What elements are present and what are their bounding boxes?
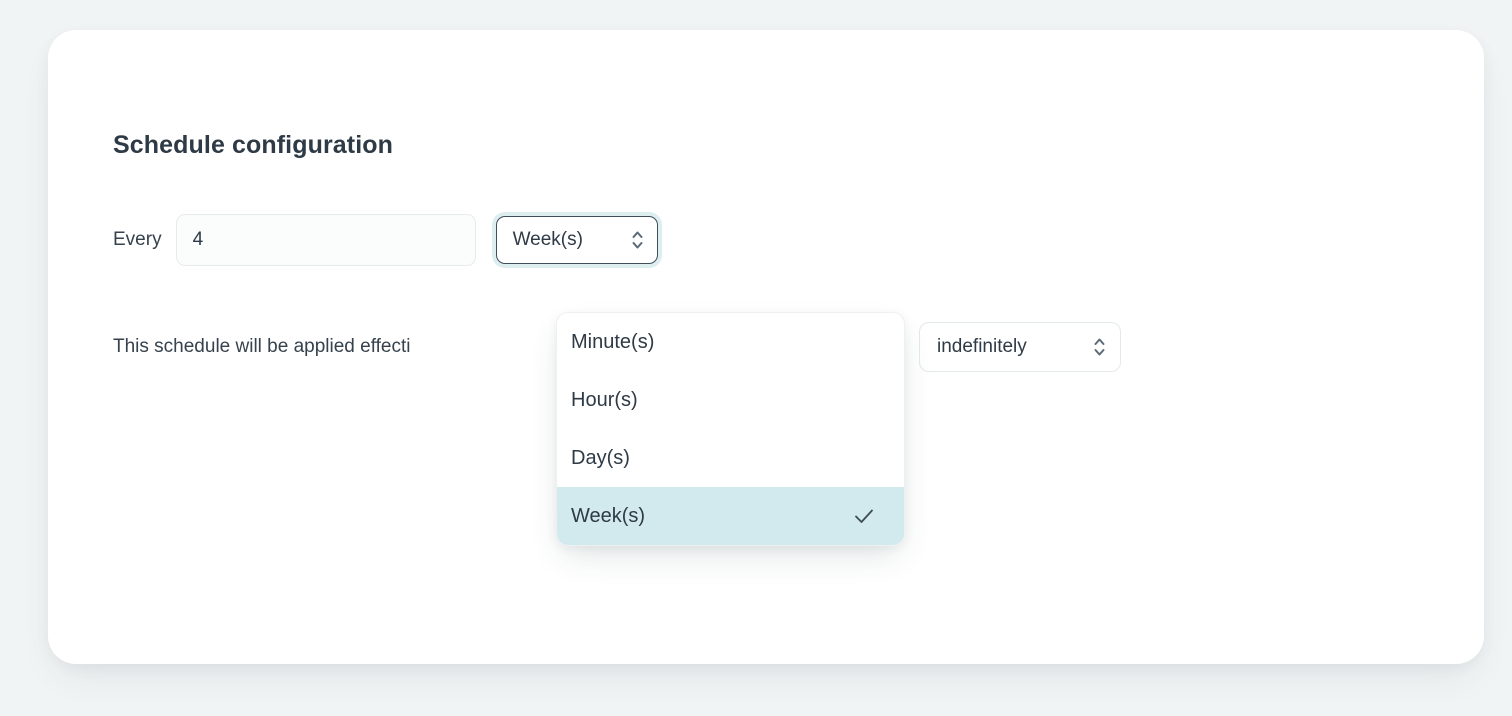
dropdown-option-minutes[interactable]: Minute(s): [557, 313, 904, 371]
duration-select[interactable]: indefinitely: [919, 322, 1121, 372]
duration-select-value: indefinitely: [937, 336, 1027, 358]
unit-select[interactable]: Week(s): [496, 216, 658, 264]
dropdown-option-label: Minute(s): [571, 331, 654, 354]
dropdown-option-hours[interactable]: Hour(s): [557, 371, 904, 429]
unit-select-focus-ring: Week(s): [492, 212, 662, 268]
app-root: Schedule configuration Every Week(s) Thi…: [0, 0, 1512, 716]
page-title: Schedule configuration: [113, 131, 393, 160]
unit-select-value: Week(s): [513, 229, 583, 251]
chevron-up-down-icon: [631, 229, 644, 251]
every-label: Every: [113, 229, 162, 251]
dropdown-option-days[interactable]: Day(s): [557, 429, 904, 487]
check-icon: [852, 504, 876, 528]
dropdown-option-label: Day(s): [571, 447, 630, 470]
dropdown-option-label: Week(s): [571, 505, 645, 528]
dropdown-option-weeks[interactable]: Week(s): [557, 487, 904, 545]
interval-value-input[interactable]: [176, 214, 476, 266]
sentence-text-before: This schedule will be applied effecti: [113, 336, 411, 358]
unit-select-dropdown: Minute(s) Hour(s) Day(s): [556, 312, 905, 546]
every-row: Every Week(s): [113, 212, 662, 268]
dropdown-option-label: Hour(s): [571, 389, 638, 412]
chevron-up-down-icon: [1093, 336, 1106, 358]
